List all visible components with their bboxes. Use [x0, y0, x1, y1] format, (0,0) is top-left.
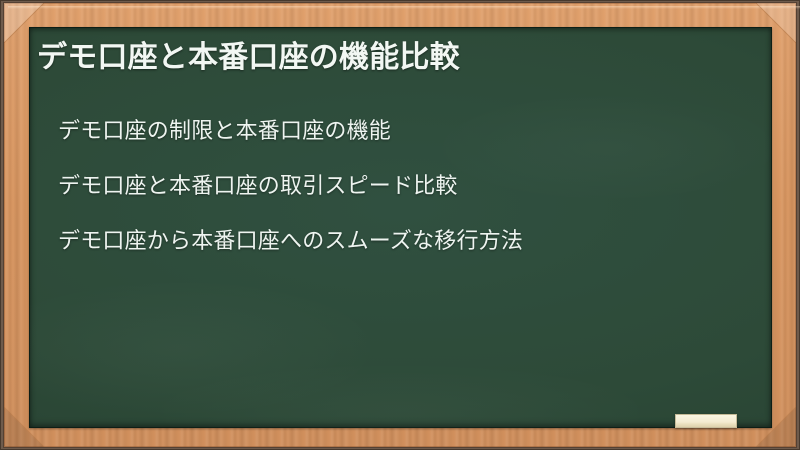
bullet-item-2: デモ口座と本番口座の取引スピード比較	[58, 158, 756, 213]
slide-root: デモ口座と本番口座の機能比較 デモ口座の制限と本番口座の機能 デモ口座と本番口座…	[0, 0, 800, 450]
eraser-felt	[676, 423, 736, 427]
frame-top-highlight	[8, 6, 800, 9]
bullet-item-1: デモ口座の制限と本番口座の機能	[58, 103, 756, 158]
chalkboard-surface: デモ口座と本番口座の機能比較 デモ口座の制限と本番口座の機能 デモ口座と本番口座…	[29, 27, 772, 428]
slide-content: デモ口座と本番口座の機能比較 デモ口座の制限と本番口座の機能 デモ口座と本番口座…	[29, 27, 772, 428]
blackboard-eraser-icon	[675, 414, 737, 428]
slide-title: デモ口座と本番口座の機能比較	[37, 37, 758, 79]
bullet-item-3: デモ口座から本番口座へのスムーズな移行方法	[58, 213, 756, 268]
bullet-list: デモ口座の制限と本番口座の機能 デモ口座と本番口座の取引スピード比較 デモ口座か…	[58, 103, 756, 268]
